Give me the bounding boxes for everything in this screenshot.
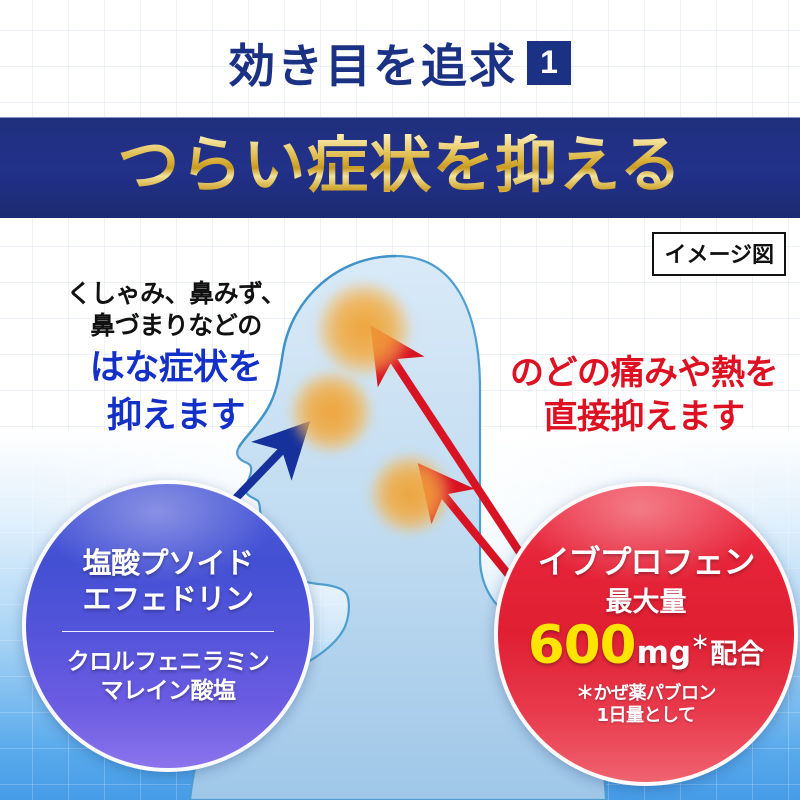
headline-text: つらい症状を抑える [117,134,682,202]
left-callout-big-line2: 抑えます [42,395,310,437]
red-circle-unit: mg [637,638,692,669]
blue-circle-ingredient1-line1: 塩酸プソイド [82,546,253,581]
blue-ingredient-circle: 塩酸プソイド エフェドリン クロルフェニラミン マレイン酸塩 [22,480,314,772]
blue-circle-ingredient2-line2: マレイン酸塩 [67,677,270,706]
red-circle-max-label: 最大量 [606,589,687,616]
blue-circle-ingredient1: 塩酸プソイド エフェドリン [82,546,253,617]
red-circle-ingredient: イブプロフェン [537,545,754,580]
blue-circle-ingredient1-line2: エフェドリン [82,582,253,617]
left-callout-small-line1: くしゃみ、鼻みず、 [42,278,310,310]
red-circle-compounded: 配合 [710,641,764,668]
right-callout: のどの痛みや熱を 直接抑えます [494,352,794,439]
right-callout-line1: のどの痛みや熱を [494,352,794,396]
top-title-step-number: 1 [527,41,571,85]
red-circle-note-line2: 1日量として [576,705,716,727]
red-circle-amount: 600 [528,619,636,672]
red-ingredient-circle: イブプロフェン 最大量 600 mg ＊ 配合 ＊かぜ薬パブロン 1日量として [494,482,798,786]
left-callout-big-line1: はな症状を [42,347,310,389]
blue-circle-divider [62,631,274,632]
headline-banner: つらい症状を抑える [0,117,800,218]
top-title-text: 効き目を追求 [229,30,517,96]
red-circle-note: ＊かぜ薬パブロン 1日量として [576,683,716,727]
red-circle-dose: 600 mg ＊ 配合 [528,619,764,672]
right-callout-line2: 直接抑えます [494,396,794,440]
poster-root: 効き目を追求 1 つらい症状を抑える イメージ図 [0,0,800,800]
red-circle-note-line1: ＊かぜ薬パブロン [576,683,716,705]
red-circle-asterisk: ＊ [691,635,709,653]
top-title: 効き目を追求 1 [0,28,800,98]
blue-circle-ingredient2: クロルフェニラミン マレイン酸塩 [67,648,270,706]
left-callout: くしゃみ、鼻みず、 鼻づまりなどの はな症状を 抑えます [42,278,310,437]
blue-circle-ingredient2-line1: クロルフェニラミン [67,648,270,677]
left-callout-small-line2: 鼻づまりなどの [42,310,310,342]
